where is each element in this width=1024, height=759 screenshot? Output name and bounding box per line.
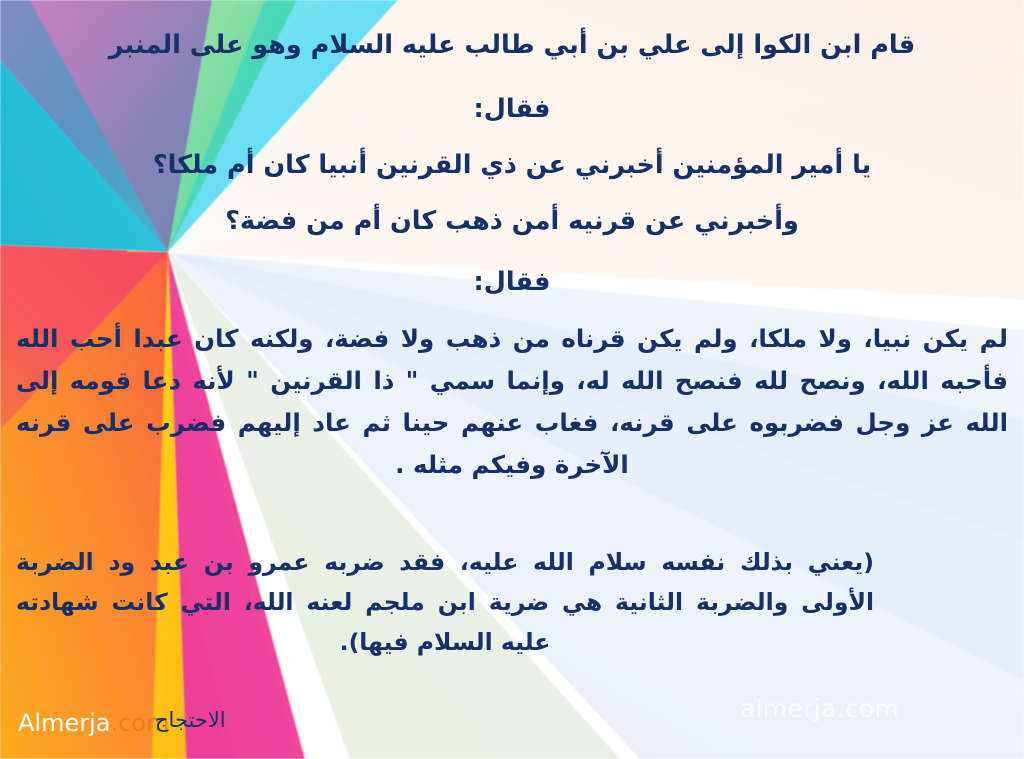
slide-text-content: قام ابن الكوا إلى علي بن أبي طالب عليه ا… [0,0,1024,759]
watermark-almerja-logo: Almerja.com [18,709,169,737]
hadith-line-2-qala: فقال: [14,92,1010,126]
watermark-site-name: Almerja [18,709,110,737]
hadith-paragraph-commentary: (يعني بذلك نفسه سلام الله عليه، فقد ضربه… [16,542,874,662]
source-book-label: الاحتجاج [155,708,226,732]
hadith-line-1: قام ابن الكوا إلى علي بن أبي طالب عليه ا… [14,28,1010,62]
hadith-line-3-question-1: يا أمير المؤمنين أخبرني عن ذي القرنين أن… [14,148,1010,182]
slide-canvas: almerja.com قام ابن الكوا إلى علي بن أبي… [0,0,1024,759]
hadith-paragraph-answer: لم يكن نبيا، ولا ملكا، ولم يكن قرناه من … [16,318,1008,486]
hadith-line-5-qala: فقال: [14,265,1010,299]
hadith-line-4-question-2: وأخبرني عن قرنيه أمن ذهب كان أم من فضة؟ [14,204,1010,238]
